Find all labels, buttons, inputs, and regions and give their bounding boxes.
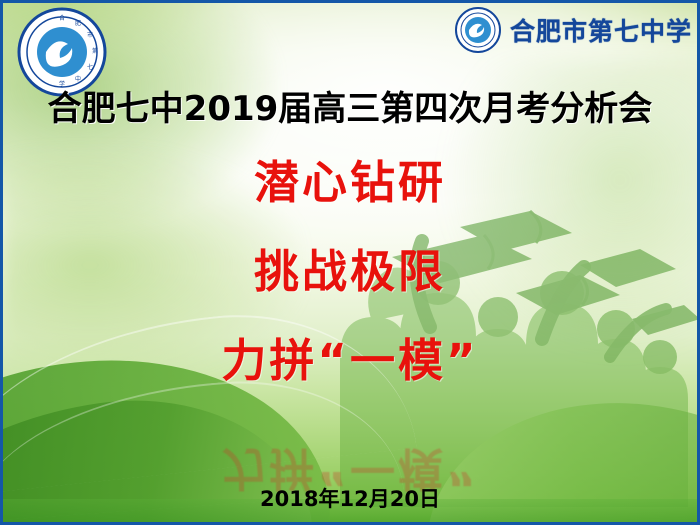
school-seal-icon: [454, 6, 502, 54]
presentation-slide: 合 肥 市 第 七 中 学 合肥市第七中学 合肥七中2019届高三第四次月考分析…: [0, 0, 700, 525]
page-title: 合肥七中2019届高三第四次月考分析会: [0, 92, 700, 126]
school-seal-logo-left: 合 肥 市 第 七 中 学: [16, 6, 108, 98]
svg-text:肥: 肥: [75, 20, 81, 27]
svg-text:第: 第: [92, 47, 98, 55]
svg-text:合: 合: [59, 14, 65, 22]
svg-text:学: 学: [59, 80, 65, 88]
date-text: 2018年12月20日: [0, 483, 700, 513]
slogan-line-3: 力拼“一模”: [0, 338, 700, 383]
school-name-text: 合肥市第七中学: [510, 12, 692, 48]
svg-text:中: 中: [75, 75, 81, 83]
school-logo-right: 合肥市第七中学: [454, 4, 692, 56]
slogan-line-2: 挑战极限: [0, 249, 700, 294]
slogan-list: 潜心钻研 挑战极限 力拼“一模”: [0, 160, 700, 383]
svg-text:市: 市: [87, 31, 93, 39]
svg-text:七: 七: [87, 63, 93, 71]
slogan-line-1: 潜心钻研: [0, 160, 700, 205]
